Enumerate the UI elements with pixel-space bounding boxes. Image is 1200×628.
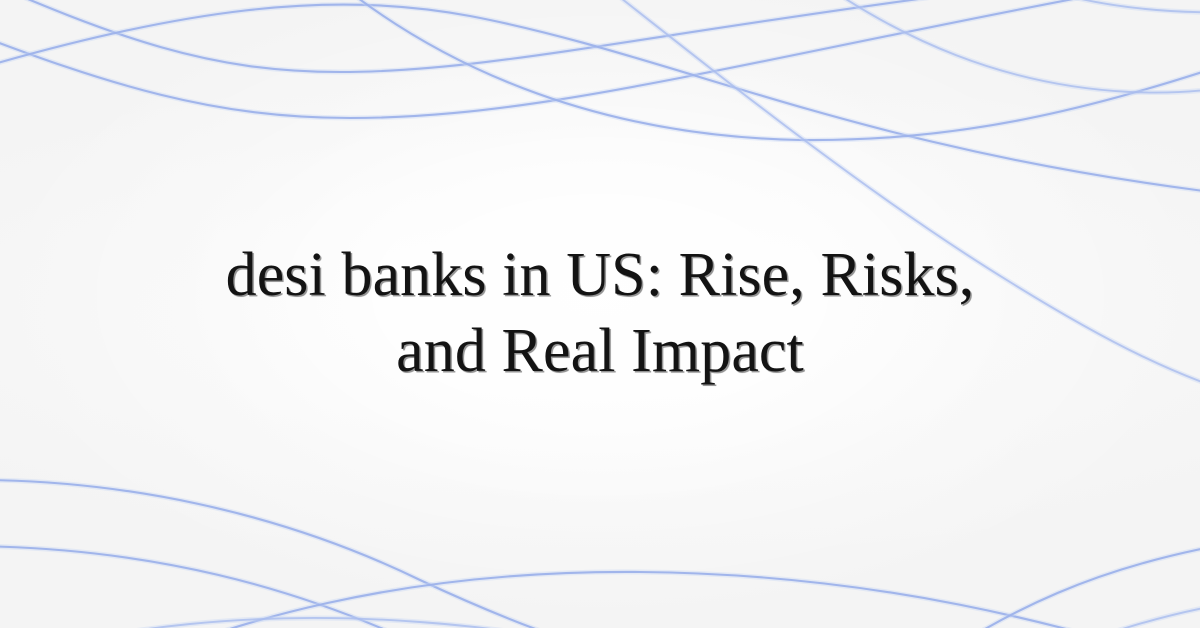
title-container: desi banks in US: Rise, Risks, and Real … [0,0,1200,628]
page-title: desi banks in US: Rise, Risks, and Real … [215,238,985,389]
og-card: desi banks in US: Rise, Risks, and Real … [0,0,1200,628]
